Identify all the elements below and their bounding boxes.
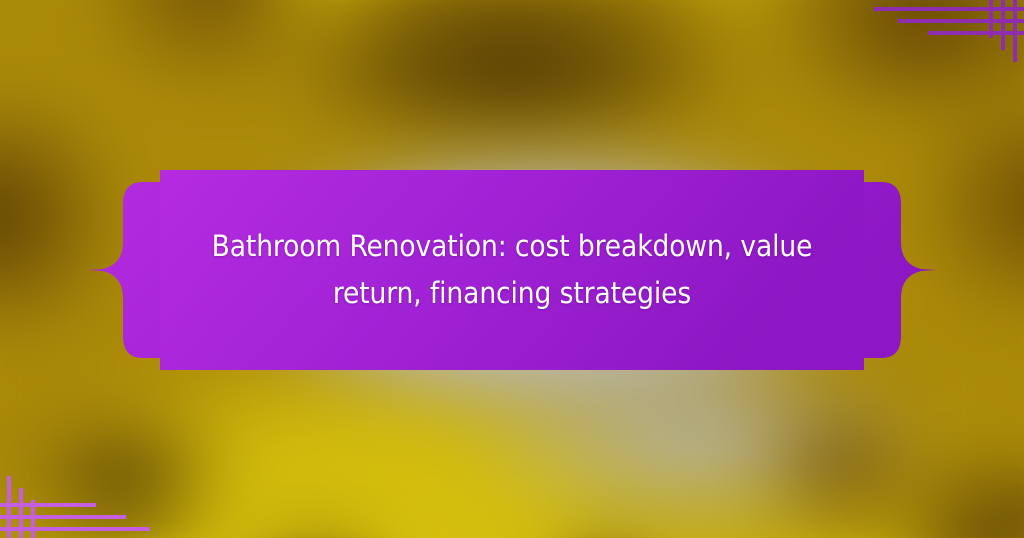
badge-title-block: Bathroom Renovation: cost breakdown, val… [166, 168, 858, 372]
title-badge: Bathroom Renovation: cost breakdown, val… [88, 168, 936, 372]
featured-image-card: Bathroom Renovation: cost breakdown, val… [0, 0, 1024, 538]
corner-line-horizontal [898, 19, 1024, 23]
corner-line-vertical [19, 488, 23, 538]
corner-line-vertical [1013, 0, 1017, 62]
corner-line-horizontal [928, 31, 1024, 35]
title-line-1: Bathroom Renovation: cost breakdown, val… [212, 223, 813, 270]
title-line-2: return, financing strategies [333, 270, 691, 317]
corner-lines-top-right [874, 0, 1024, 62]
corner-line-vertical [31, 500, 35, 538]
corner-line-horizontal [0, 503, 96, 507]
corner-line-horizontal [0, 515, 126, 519]
corner-lines-bottom-left [0, 476, 150, 538]
corner-line-vertical [1001, 0, 1005, 50]
corner-line-vertical [989, 0, 993, 38]
corner-line-horizontal [0, 527, 150, 531]
corner-line-vertical [7, 476, 11, 538]
corner-line-horizontal [874, 7, 1024, 11]
